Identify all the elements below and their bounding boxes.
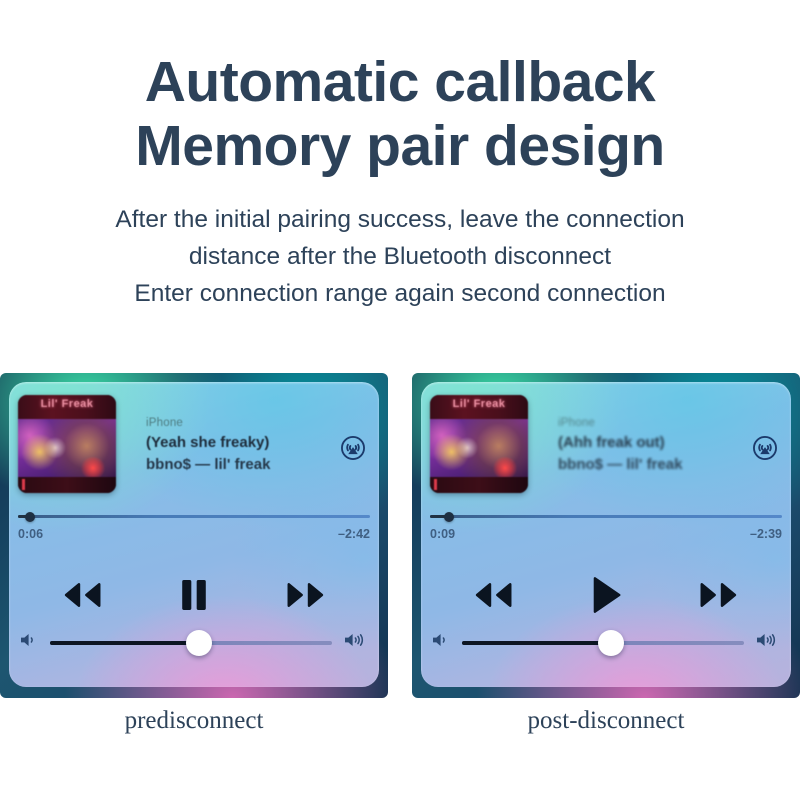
track-metadata: iPhone (Ahh freak out) bbno$ — lil' frea…	[558, 415, 682, 476]
album-art-title: Lil' Freak	[430, 398, 528, 410]
airplay-audio-icon[interactable]	[752, 435, 778, 461]
playback-scrubber[interactable]: 0:06 –2:42	[18, 515, 370, 541]
volume-low-icon	[18, 631, 40, 654]
card-captions-row: predisconnect post-disconnect	[0, 707, 800, 735]
volume-filled	[462, 641, 611, 645]
scrubber-track[interactable]	[18, 515, 370, 518]
fast-forward-icon[interactable]	[283, 579, 333, 611]
track-title: (Yeah she freaky)	[146, 432, 270, 454]
playback-scrubber[interactable]: 0:09 –2:39	[430, 515, 782, 541]
source-device-label: iPhone	[558, 415, 682, 432]
airplay-audio-icon[interactable]	[340, 435, 366, 461]
track-artist: bbno$ — lil' freak	[558, 454, 682, 476]
scrubber-times: 0:09 –2:39	[430, 527, 782, 541]
volume-control[interactable]	[430, 631, 782, 654]
subtitle-line-3: Enter connection range again second conn…	[0, 275, 800, 312]
volume-high-icon	[342, 631, 370, 654]
rewind-icon[interactable]	[55, 579, 105, 611]
caption-post-disconnect: post-disconnect	[412, 707, 800, 735]
source-device-label: iPhone	[146, 415, 270, 432]
elapsed-time: 0:06	[18, 527, 43, 541]
headline-line-2: Memory pair design	[0, 114, 800, 178]
volume-control[interactable]	[18, 631, 370, 654]
volume-slider-handle	[598, 630, 624, 656]
volume-slider-track[interactable]	[462, 641, 744, 645]
volume-filled	[50, 641, 199, 645]
remaining-time: –2:39	[750, 527, 782, 541]
player-card-post-disconnect: Lil' Freak iPhone (Ahh freak out) bbno$ …	[412, 373, 800, 698]
caption-predisconnect: predisconnect	[0, 707, 388, 735]
album-art-title: Lil' Freak	[18, 398, 116, 410]
player-card-predisconnect: Lil' Freak iPhone (Yeah she freaky) bbno…	[0, 373, 388, 698]
player-header: Lil' Freak iPhone (Ahh freak out) bbno$ …	[430, 395, 784, 495]
transport-controls	[430, 569, 782, 621]
scrubber-handle	[444, 512, 454, 522]
album-artwork: Lil' Freak	[18, 395, 116, 493]
volume-high-icon	[754, 631, 782, 654]
track-metadata: iPhone (Yeah she freaky) bbno$ — lil' fr…	[146, 415, 270, 476]
elapsed-time: 0:09	[430, 527, 455, 541]
track-title: (Ahh freak out)	[558, 432, 682, 454]
subtitle-line-1: After the initial pairing success, leave…	[0, 201, 800, 238]
volume-slider-handle	[186, 630, 212, 656]
player-header: Lil' Freak iPhone (Yeah she freaky) bbno…	[18, 395, 372, 495]
track-artist: bbno$ — lil' freak	[146, 454, 270, 476]
transport-controls	[18, 569, 370, 621]
subtitle-line-2: distance after the Bluetooth disconnect	[0, 238, 800, 275]
scrubber-handle	[25, 512, 35, 522]
volume-slider-track[interactable]	[50, 641, 332, 645]
page-title: Automatic callback Memory pair design	[0, 0, 800, 179]
page-subtitle: After the initial pairing success, leave…	[0, 201, 800, 313]
player-cards-row: Lil' Freak iPhone (Yeah she freaky) bbno…	[0, 373, 800, 698]
volume-low-icon	[430, 631, 452, 654]
card-frame: Lil' Freak iPhone (Ahh freak out) bbno$ …	[412, 373, 800, 698]
scrubber-track[interactable]	[430, 515, 782, 518]
scrubber-times: 0:06 –2:42	[18, 527, 370, 541]
card-frame: Lil' Freak iPhone (Yeah she freaky) bbno…	[0, 373, 388, 698]
rewind-icon[interactable]	[466, 579, 516, 611]
play-icon[interactable]	[589, 576, 623, 614]
pause-icon[interactable]	[179, 577, 209, 613]
fast-forward-icon[interactable]	[696, 579, 746, 611]
remaining-time: –2:42	[338, 527, 370, 541]
promo-page: Automatic callback Memory pair design Af…	[0, 0, 800, 800]
album-artwork: Lil' Freak	[430, 395, 528, 493]
headline-line-1: Automatic callback	[145, 50, 656, 114]
